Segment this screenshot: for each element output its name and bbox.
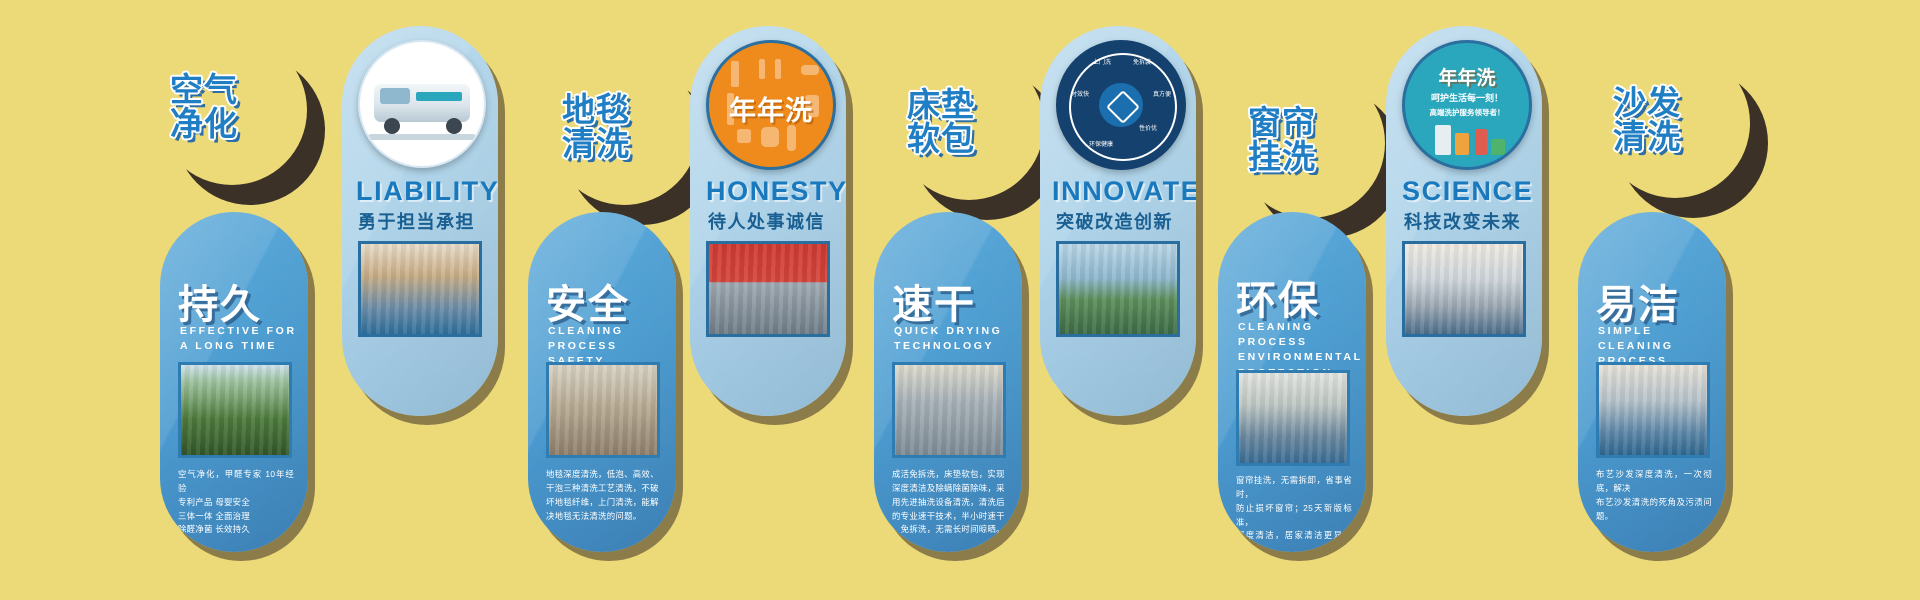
- card-title: LIABILITY: [356, 176, 498, 207]
- banner-stage: 空气 净化 地毯 清洗 床垫 软包 窗帘 挂洗 沙发 清洗 持久 EFFECTI…: [0, 0, 1920, 600]
- heading-air-purification: 空气 净化: [175, 55, 325, 205]
- card-subtitle: 突破改造创新: [1056, 208, 1173, 234]
- innovation-hexagon-badge: 上门洗 免拆装 时效快 真方便 环保健康 性价优: [1056, 40, 1186, 170]
- card-honesty[interactable]: 年年洗 HONESTY 待人处事诚信: [690, 26, 846, 416]
- photo-mattress-cleaning[interactable]: [892, 362, 1006, 458]
- badge-caption: 年年洗: [1405, 63, 1529, 90]
- card-content: 安全 CLEANING PROCESS SAFETY 地毯深度清洗，低泡、高效、…: [528, 212, 676, 552]
- card-description: 窗帘挂洗，无需拆卸，省事省时， 防止损坏窗帘；25天新版标准， 深度清洁，居家清…: [1236, 474, 1352, 552]
- card-title: SCIENCE: [1402, 176, 1533, 207]
- card-liability[interactable]: LIABILITY 勇于担当承担: [342, 26, 498, 416]
- photo-sofa-cleaning[interactable]: [1596, 362, 1710, 458]
- brand-seal-badge: 年年洗 呵护生活每一刻！ 高端洗护服务领导者！: [1402, 40, 1532, 170]
- card-description: 成活免拆洗，床垫软包，实现 深度清洁及除螨除菌除味，采 用先进抽洗设备清洗，清洗…: [892, 468, 1008, 537]
- card-science[interactable]: 年年洗 呵护生活每一刻！ 高端洗护服务领导者！ SCIENCE 科技改变未来: [1386, 26, 1542, 416]
- card-title: 安全: [546, 272, 630, 330]
- card-description: 布艺沙发深度清洗，一次彻底，解决 布艺沙发清洗的死角及污渍问题。: [1596, 468, 1712, 523]
- photo-cleaning-equipment[interactable]: [1402, 241, 1526, 337]
- heading-label: 空气 净化: [129, 73, 279, 140]
- card-durable[interactable]: 持久 EFFECTIVE FOR A LONG TIME 空气净化，甲醛专家 1…: [160, 212, 308, 552]
- card-description: 空气净化，甲醛专家 10年经验 专利产品 母婴安全 三体一体 全面治理 除醛净菌…: [178, 468, 294, 537]
- photo-air-purification[interactable]: [178, 362, 292, 458]
- card-content: 年年洗 呵护生活每一刻！ 高端洗护服务领导者！ SCIENCE 科技改变未来: [1386, 26, 1542, 416]
- card-subtitle: EFFECTIVE FOR A LONG TIME: [180, 324, 297, 354]
- card-description: 地毯深度清洗，低泡、高效、 干泡三种清洗工艺清洗，不破 坏地毯纤维，上门清洗，能…: [546, 468, 662, 523]
- card-title: 持久: [178, 272, 262, 330]
- heading-label: 床垫 软包: [866, 88, 1016, 155]
- card-content: LIABILITY 勇于担当承担: [342, 26, 498, 416]
- card-eco[interactable]: 环保 CLEANING PROCESS ENVIRONMENTAL PROTEC…: [1218, 212, 1366, 552]
- card-title: 易洁: [1596, 272, 1680, 330]
- card-subtitle: 勇于担当承担: [358, 208, 475, 234]
- card-title: INNOVATE: [1052, 176, 1196, 207]
- heading-sofa-cleaning: 沙发 清洗: [1618, 68, 1768, 218]
- card-title: 速干: [892, 272, 976, 330]
- photo-curtain-cleaning[interactable]: [1236, 370, 1350, 466]
- photo-carpet-cleaning[interactable]: [546, 362, 660, 458]
- photo-office-building[interactable]: [1056, 241, 1180, 337]
- heading-label: 地毯 清洗: [521, 93, 671, 160]
- card-content: 速干 QUICK DRYING TECHNOLOGY 成活免拆洗，床垫软包，实现…: [874, 212, 1022, 552]
- card-subtitle: 待人处事诚信: [708, 208, 825, 234]
- photo-training-banner[interactable]: [706, 241, 830, 337]
- card-subtitle: 科技改变未来: [1404, 208, 1521, 234]
- card-title: HONESTY: [706, 176, 846, 207]
- card-content: 上门洗 免拆装 时效快 真方便 环保健康 性价优 INNOVATE 突破改造创新: [1040, 26, 1196, 416]
- photo-team-training[interactable]: [358, 241, 482, 337]
- card-quick-drying[interactable]: 速干 QUICK DRYING TECHNOLOGY 成活免拆洗，床垫软包，实现…: [874, 212, 1022, 552]
- card-title: 环保: [1236, 268, 1320, 326]
- heading-label: 窗帘 挂洗: [1207, 106, 1357, 173]
- card-safety[interactable]: 安全 CLEANING PROCESS SAFETY 地毯深度清洗，低泡、高效、…: [528, 212, 676, 552]
- card-content: 环保 CLEANING PROCESS ENVIRONMENTAL PROTEC…: [1218, 212, 1366, 552]
- heading-label: 沙发 清洗: [1572, 86, 1722, 153]
- card-content: 年年洗 HONESTY 待人处事诚信: [690, 26, 846, 416]
- card-content: 易洁 SIMPLE CLEANING PROCESS 布艺沙发深度清洗，一次彻底…: [1578, 212, 1726, 552]
- card-easy-clean[interactable]: 易洁 SIMPLE CLEANING PROCESS 布艺沙发深度清洗，一次彻底…: [1578, 212, 1726, 552]
- niannianxi-logo-badge: 年年洗: [706, 40, 836, 170]
- card-innovate[interactable]: 上门洗 免拆装 时效快 真方便 环保健康 性价优 INNOVATE 突破改造创新: [1040, 26, 1196, 416]
- badge-sub-caption: 呵护生活每一刻！: [1405, 91, 1529, 104]
- badge-sub-caption-2: 高端洗护服务领导者！: [1405, 107, 1529, 118]
- service-van-badge: [358, 40, 486, 168]
- badge-caption: 年年洗: [709, 89, 833, 128]
- card-subtitle: QUICK DRYING TECHNOLOGY: [894, 324, 1002, 354]
- card-content: 持久 EFFECTIVE FOR A LONG TIME 空气净化，甲醛专家 1…: [160, 212, 308, 552]
